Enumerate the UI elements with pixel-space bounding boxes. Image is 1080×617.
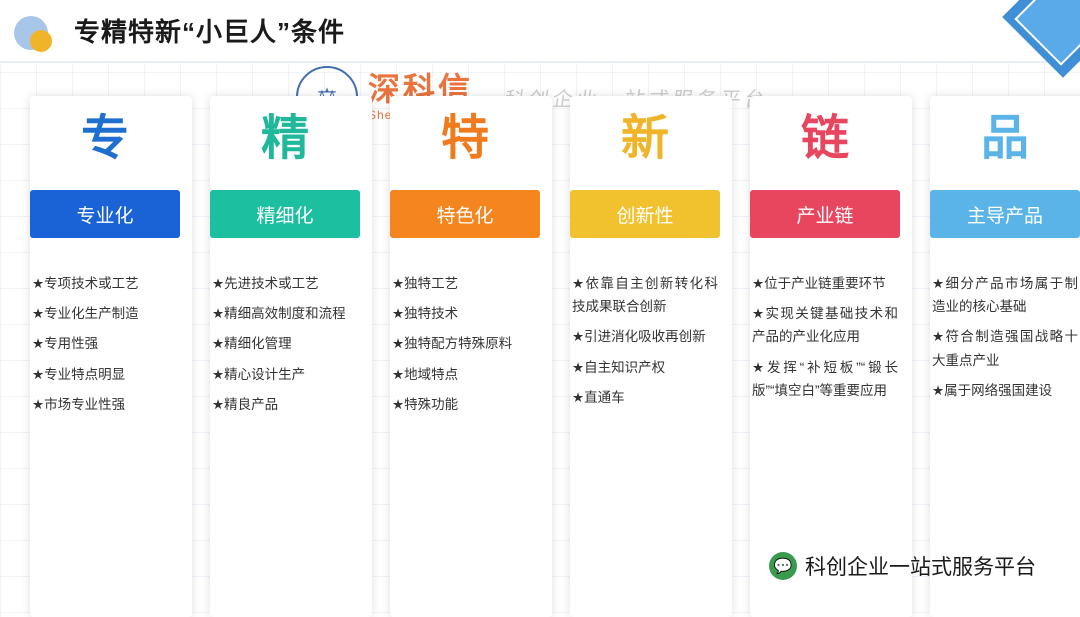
category-character: 特 [384, 96, 546, 182]
bullet-item: ★依靠自主创新转化科技成果联合创新 [572, 272, 718, 318]
category-tag[interactable]: 精细化 [210, 190, 360, 238]
bullet-item: ★发挥“补短板”“锻长版”“填空白”等重要应用 [752, 356, 898, 402]
bullet-item: ★精细高效制度和流程 [212, 302, 358, 325]
bullet-list: ★细分产品市场属于制造业的核心基础★符合制造强国战略十大重点产业★属于网络强国建… [932, 272, 1078, 402]
category-character: 精 [204, 96, 366, 182]
category-tag[interactable]: 主导产品 [930, 190, 1080, 238]
bullet-item: ★引进消化吸收再创新 [572, 325, 718, 348]
page-title: 专精特新“小巨人”条件 [74, 12, 345, 49]
bullet-item: ★专项技术或工艺 [32, 272, 178, 295]
bullet-list: ★依靠自主创新转化科技成果联合创新★引进消化吸收再创新★自主知识产权★直通车 [572, 272, 718, 409]
category-column: 新创新性★依靠自主创新转化科技成果联合创新★引进消化吸收再创新★自主知识产权★直… [540, 96, 720, 617]
header-divider [0, 61, 1080, 63]
bullet-item: ★符合制造强国战略十大重点产业 [932, 325, 1078, 371]
bullet-item: ★自主知识产权 [572, 356, 718, 379]
bullet-item: ★独特配方特殊原料 [392, 332, 538, 355]
bullet-list: ★独特工艺★独特技术★独特配方特殊原料★地域特点★特殊功能 [392, 272, 538, 416]
category-tag[interactable]: 特色化 [390, 190, 540, 238]
category-tag[interactable]: 专业化 [30, 190, 180, 238]
bullet-item: ★精细化管理 [212, 332, 358, 355]
category-column: 专专业化★专项技术或工艺★专业化生产制造★专用性强★专业特点明显★市场专业性强 [0, 96, 180, 617]
bullet-item: ★实现关键基础技术和产品的产业化应用 [752, 302, 898, 348]
columns-container: 专专业化★专项技术或工艺★专业化生产制造★专用性强★专业特点明显★市场专业性强精… [0, 96, 1080, 617]
bullet-item: ★市场专业性强 [32, 393, 178, 416]
category-character: 品 [924, 96, 1080, 182]
header-bar: 专精特新“小巨人”条件 [0, 0, 1080, 62]
bullet-item: ★特殊功能 [392, 393, 538, 416]
category-column: 链产业链★位于产业链重要环节★实现关键基础技术和产品的产业化应用★发挥“补短板”… [720, 96, 900, 617]
bullet-item: ★专用性强 [32, 332, 178, 355]
bullet-item: ★位于产业链重要环节 [752, 272, 898, 295]
bullet-item: ★独特技术 [392, 302, 538, 325]
bullet-item: ★细分产品市场属于制造业的核心基础 [932, 272, 1078, 318]
bullet-item: ★先进技术或工艺 [212, 272, 358, 295]
category-character: 新 [564, 96, 726, 182]
circle-dot-logo-icon [14, 16, 48, 50]
footer-brand: 💬 科创企业一站式服务平台 [769, 551, 1036, 581]
category-character: 专 [24, 96, 186, 182]
category-column: 精精细化★先进技术或工艺★精细高效制度和流程★精细化管理★精心设计生产★精良产品 [180, 96, 360, 617]
category-column: 特特色化★独特工艺★独特技术★独特配方特殊原料★地域特点★特殊功能 [360, 96, 540, 617]
bullet-list: ★专项技术或工艺★专业化生产制造★专用性强★专业特点明显★市场专业性强 [32, 272, 178, 416]
bullet-item: ★精心设计生产 [212, 363, 358, 386]
bullet-item: ★独特工艺 [392, 272, 538, 295]
bullet-item: ★直通车 [572, 386, 718, 409]
category-column: 品主导产品★细分产品市场属于制造业的核心基础★符合制造强国战略十大重点产业★属于… [900, 96, 1080, 617]
bullet-item: ★地域特点 [392, 363, 538, 386]
category-character: 链 [744, 96, 906, 182]
footer-brand-text: 科创企业一站式服务平台 [805, 551, 1036, 581]
bullet-item: ★专业特点明显 [32, 363, 178, 386]
bullet-item: ★属于网络强国建设 [932, 379, 1078, 402]
bullet-item: ★专业化生产制造 [32, 302, 178, 325]
bullet-item: ★精良产品 [212, 393, 358, 416]
category-tag[interactable]: 创新性 [570, 190, 720, 238]
category-tag[interactable]: 产业链 [750, 190, 900, 238]
bullet-list: ★先进技术或工艺★精细高效制度和流程★精细化管理★精心设计生产★精良产品 [212, 272, 358, 416]
bullet-list: ★位于产业链重要环节★实现关键基础技术和产品的产业化应用★发挥“补短板”“锻长版… [752, 272, 898, 402]
wechat-icon: 💬 [769, 552, 797, 580]
